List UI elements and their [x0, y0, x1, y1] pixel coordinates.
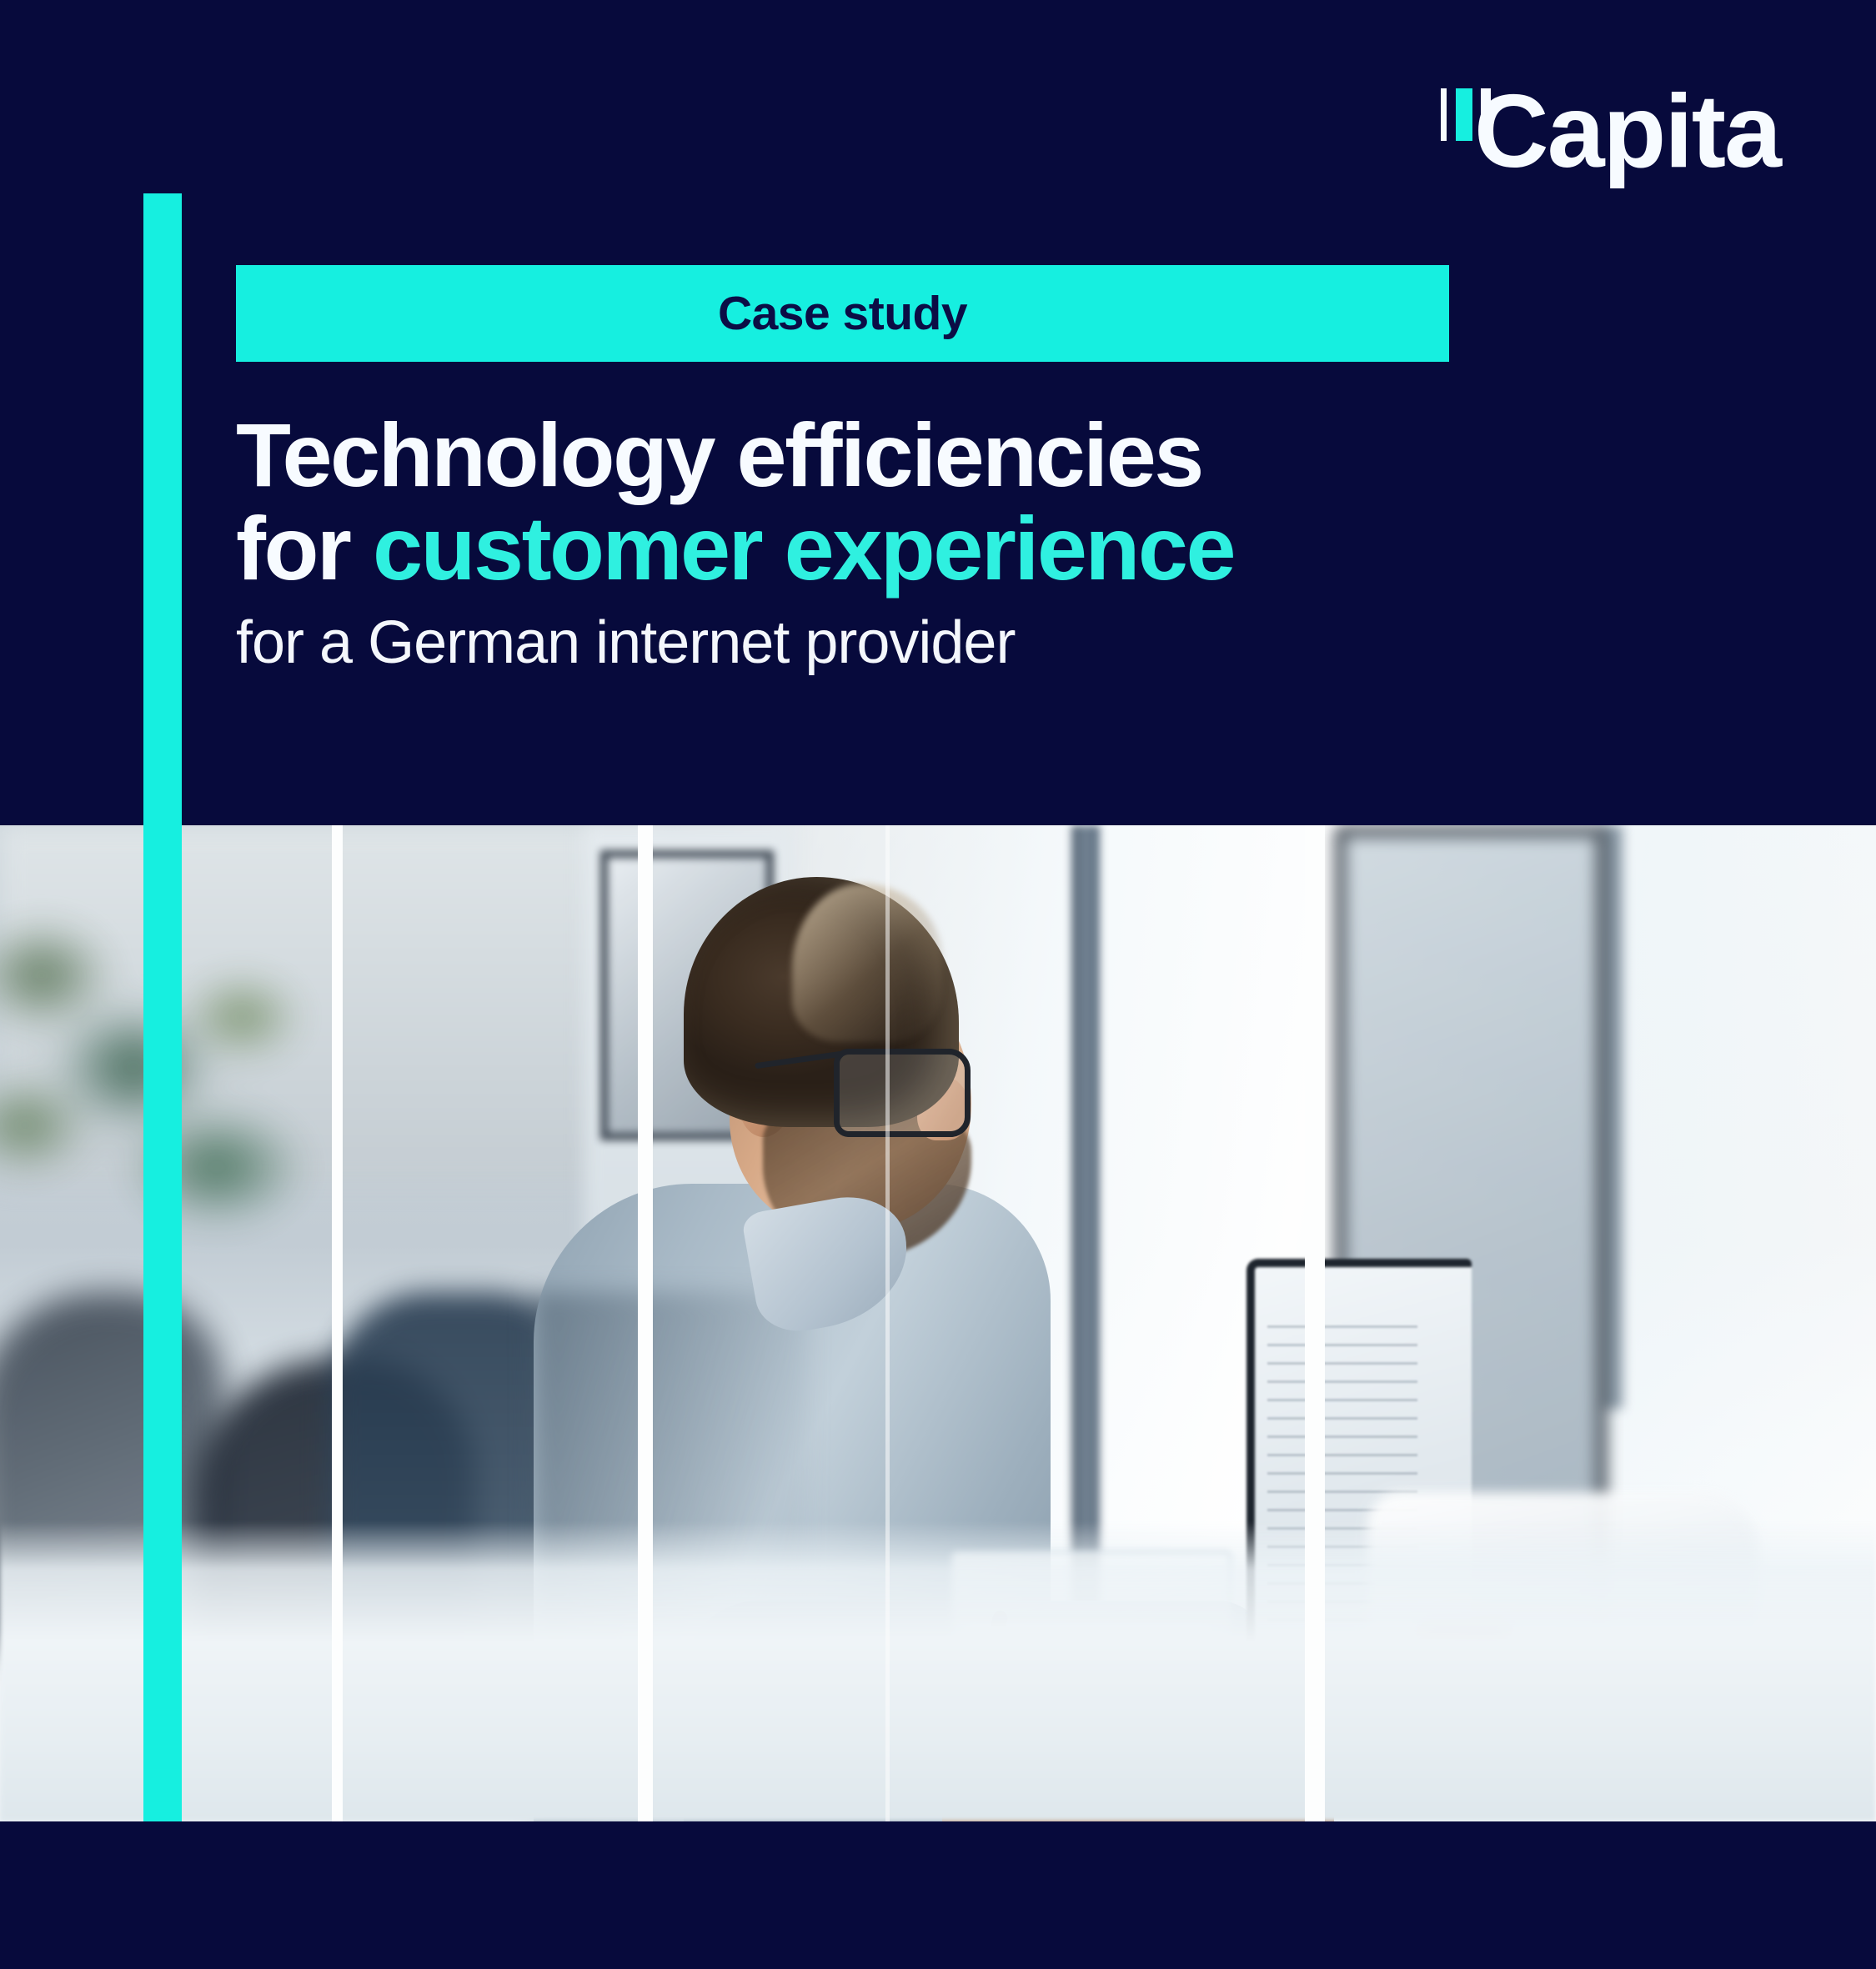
footer-panel: [0, 1821, 1876, 1969]
photo-divider-3: [1305, 825, 1325, 1821]
logo-wordmark: Capita: [1474, 91, 1780, 173]
headline-line-2-accent: customer experience: [373, 498, 1234, 599]
page-subtitle: for a German internet provider: [236, 609, 1487, 677]
photo-divider-1: [332, 825, 343, 1821]
case-study-cover: Capita Case study Technology efficiencie…: [0, 0, 1876, 1969]
photo-divider-2: [638, 825, 653, 1821]
case-study-banner: Case study: [236, 265, 1449, 362]
logo-bar-white: [1481, 88, 1491, 141]
headline-line-1: Technology efficiencies: [236, 404, 1202, 505]
headline-line-2-plain: for: [236, 498, 373, 599]
photo-subject-glasses: [834, 1049, 971, 1137]
capita-bars-mark-icon: [1441, 83, 1497, 173]
cyan-accent-rule: [143, 193, 182, 1821]
photo-subject-hair-highlight: [792, 884, 942, 1042]
header-panel: Capita Case study Technology efficiencie…: [0, 0, 1876, 825]
capita-logo: Capita: [1441, 73, 1780, 173]
page-title: Technology efficiencies for customer exp…: [236, 408, 1487, 596]
case-study-label: Case study: [718, 286, 967, 341]
title-block: Technology efficiencies for customer exp…: [236, 408, 1487, 676]
photo-desk-surface: [0, 1521, 1876, 1821]
logo-bar-thin: [1441, 88, 1447, 141]
logo-bar-cyan: [1456, 88, 1472, 141]
hero-photo: [0, 825, 1876, 1821]
photo-divider-4: [885, 825, 890, 1821]
